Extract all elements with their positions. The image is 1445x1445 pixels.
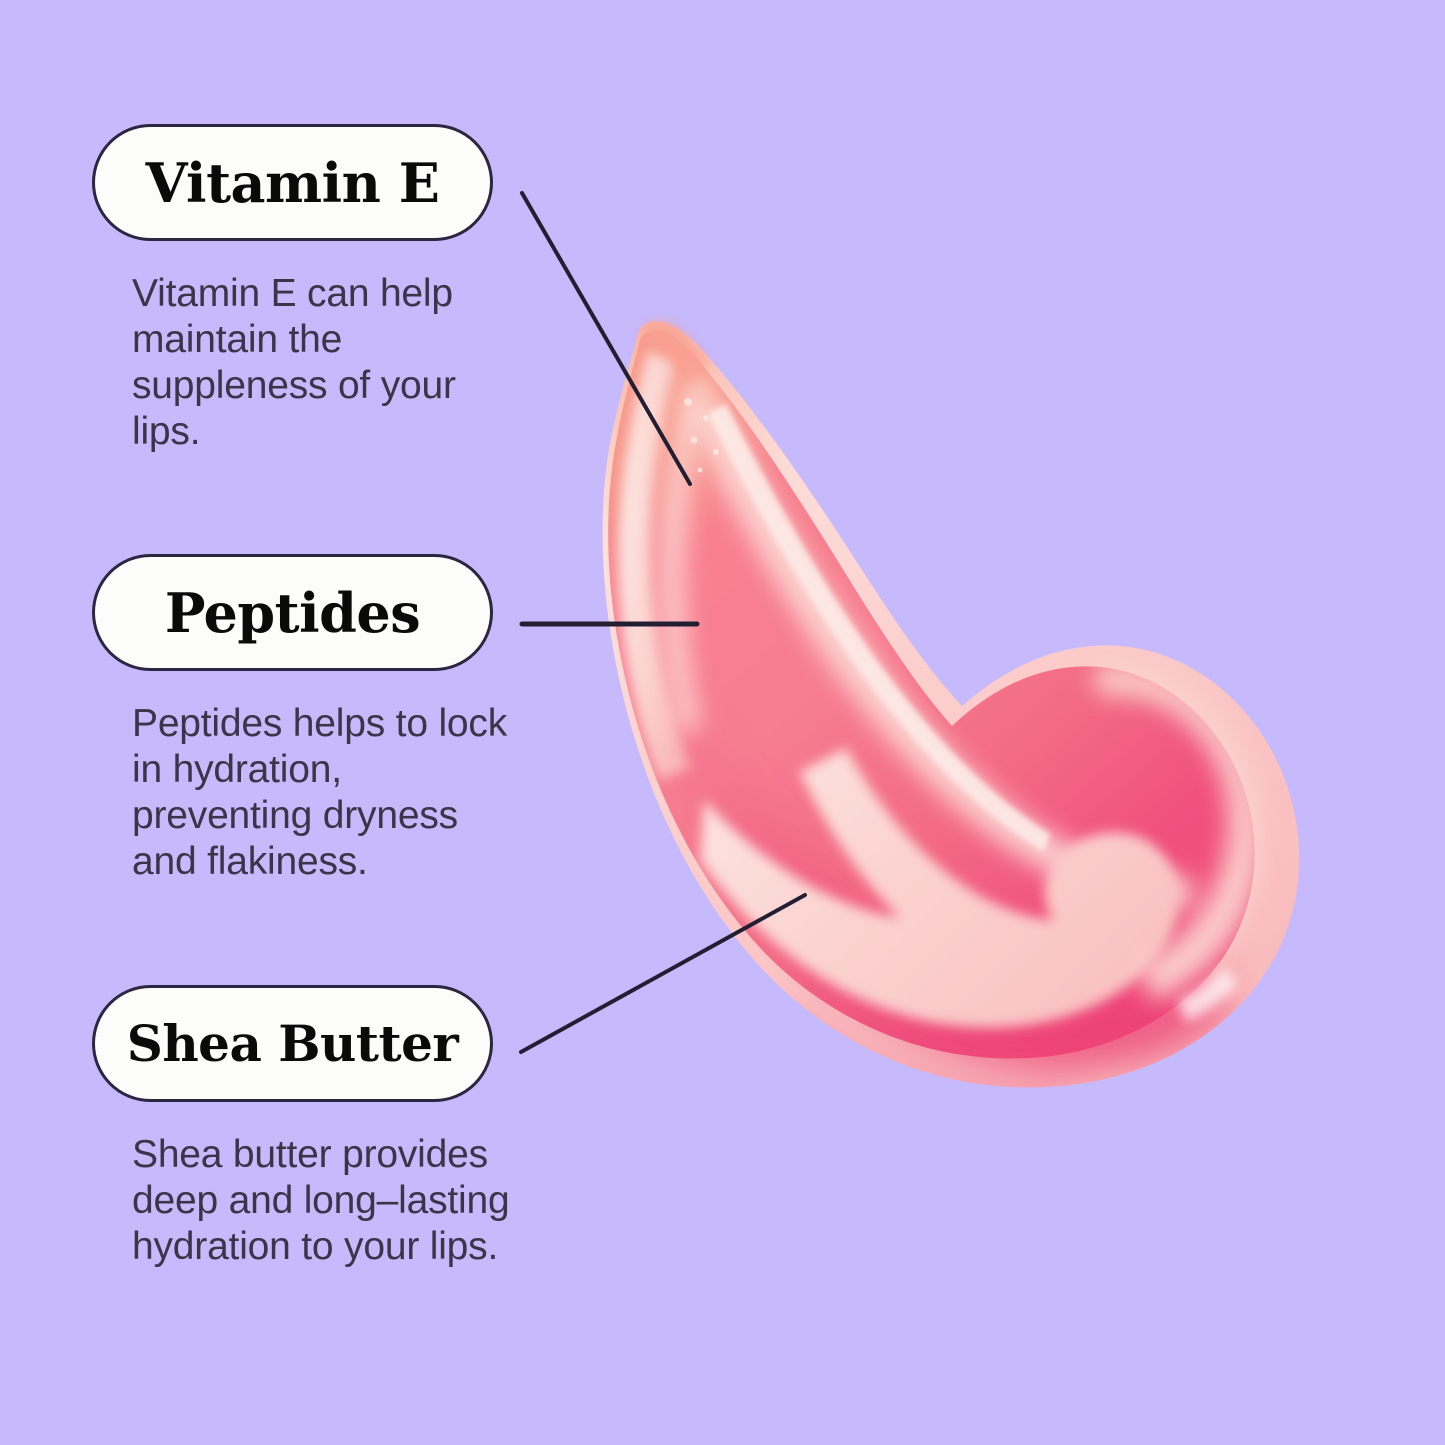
pill-peptides: Peptides — [92, 554, 493, 671]
description-peptides: Peptides helps to lock in hydration, pre… — [132, 701, 532, 885]
callout-shea-butter: Shea Butter Shea butter provides deep an… — [92, 985, 532, 1270]
pill-label-peptides: Peptides — [165, 586, 420, 640]
callout-vitamin-e: Vitamin E Vitamin E can help maintain th… — [92, 124, 532, 455]
description-vitamin-e: Vitamin E can help maintain the supplene… — [132, 271, 532, 455]
pill-label-vitamin-e: Vitamin E — [146, 156, 440, 210]
pill-vitamin-e: Vitamin E — [92, 124, 493, 241]
description-shea-butter: Shea butter provides deep and long–lasti… — [132, 1132, 532, 1270]
callout-peptides: Peptides Peptides helps to lock in hydra… — [92, 554, 532, 885]
infographic-canvas: Vitamin E Vitamin E can help maintain th… — [0, 0, 1445, 1445]
pill-shea-butter: Shea Butter — [92, 985, 493, 1102]
pill-label-shea-butter: Shea Butter — [127, 1019, 459, 1069]
